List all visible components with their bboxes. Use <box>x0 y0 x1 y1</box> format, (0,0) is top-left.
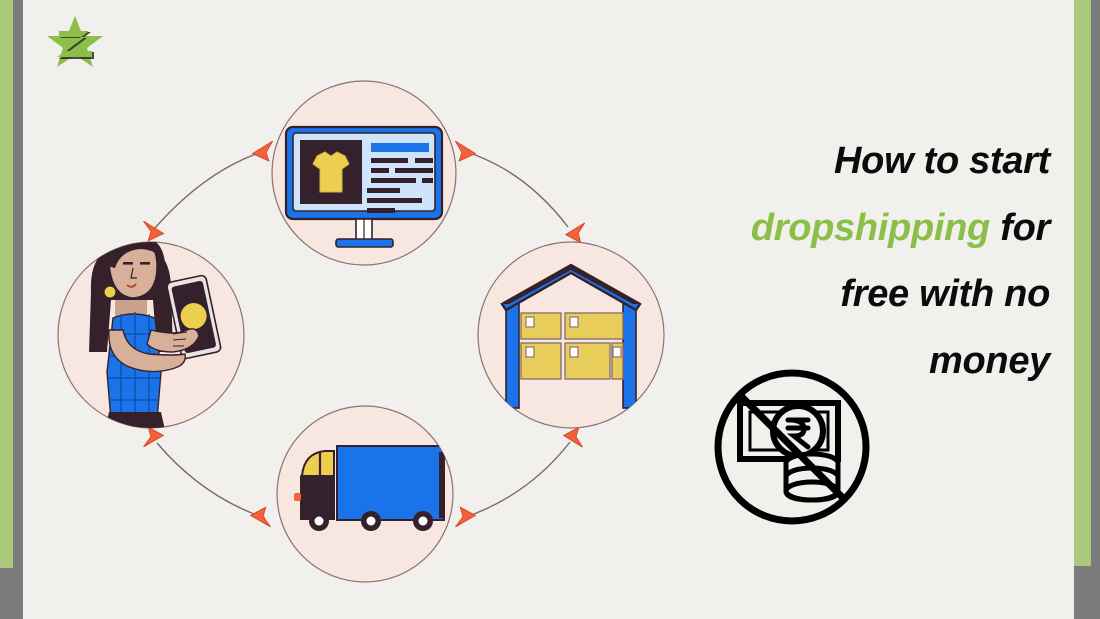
arrowhead-to-customer-bottom <box>144 427 165 449</box>
title-line-3: free with no <box>840 273 1050 315</box>
green-bar-left <box>0 0 13 568</box>
arrowhead-to-truck-left <box>250 507 271 529</box>
title-accent-word: dropshipping <box>751 207 990 249</box>
arrowhead-to-warehouse-top <box>565 221 585 243</box>
no-money-glyph <box>712 363 872 531</box>
cycle-step-customer[interactable] <box>58 236 244 430</box>
arrowhead-to-warehouse-bottom <box>563 427 583 449</box>
cycle-step-warehouse[interactable] <box>478 242 664 428</box>
arrowhead-to-truck-right <box>456 507 477 529</box>
arrow-path-store-to-warehouse <box>460 150 568 227</box>
page-title: How to start dropshipping for free with … <box>700 128 1050 394</box>
arrowhead-to-store-right <box>252 139 273 161</box>
arrow-path-warehouse-to-truck <box>463 442 570 518</box>
title-line-2-tail: for <box>1000 207 1050 249</box>
title-line-4: money <box>929 340 1050 382</box>
arrow-path-truck-to-customer <box>157 443 265 518</box>
cycle-step-online-store[interactable] <box>272 81 456 265</box>
dropshipping-cycle-diagram <box>23 0 683 619</box>
gray-bar-left <box>13 0 23 619</box>
cycle-step-delivery-truck[interactable] <box>277 406 453 582</box>
slide-canvas: How to start dropshipping for free with … <box>0 0 1100 619</box>
gray-bar-right <box>1091 0 1100 619</box>
green-bar-right <box>1074 0 1091 566</box>
no-money-icon <box>712 363 872 531</box>
title-line-1: How to start <box>834 140 1050 182</box>
arrowhead-to-store-left <box>455 139 476 161</box>
arrow-path-customer-to-store <box>155 150 268 228</box>
truck-icon <box>294 446 444 531</box>
